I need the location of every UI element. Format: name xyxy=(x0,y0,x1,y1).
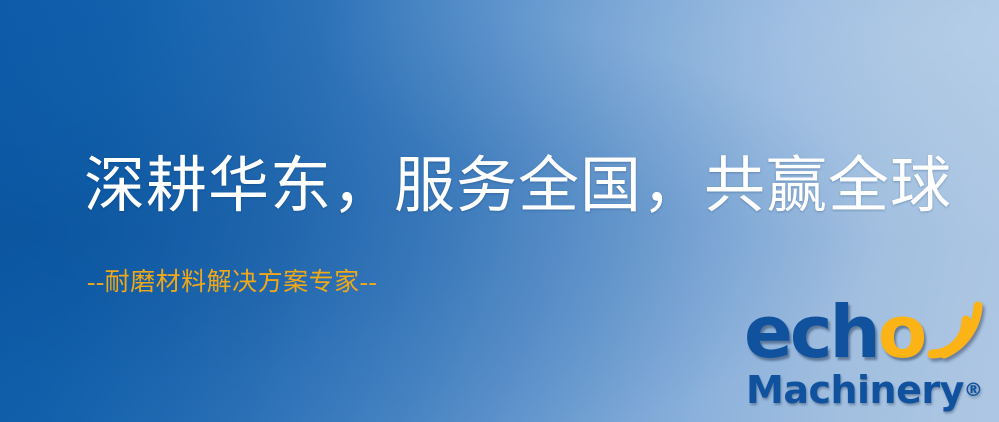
subtitle-text: --耐磨材料解决方案专家-- xyxy=(87,268,377,298)
registered-trademark-icon: ® xyxy=(964,379,983,401)
promo-banner: 深耕华东，服务全国，共赢全球 --耐磨材料解决方案专家-- echo Machi… xyxy=(0,0,999,422)
logo-wordmark: echo xyxy=(744,296,924,368)
logo-word-ech: ech xyxy=(744,290,878,374)
signal-wave-icon xyxy=(926,292,996,364)
logo-tagline: Machinery® xyxy=(746,368,983,412)
logo-word-o: o xyxy=(878,290,924,374)
company-logo: echo Machinery® xyxy=(744,296,994,422)
headline-text: 深耕华东，服务全国，共赢全球 xyxy=(84,150,952,224)
logo-tagline-text: Machinery xyxy=(746,368,964,412)
